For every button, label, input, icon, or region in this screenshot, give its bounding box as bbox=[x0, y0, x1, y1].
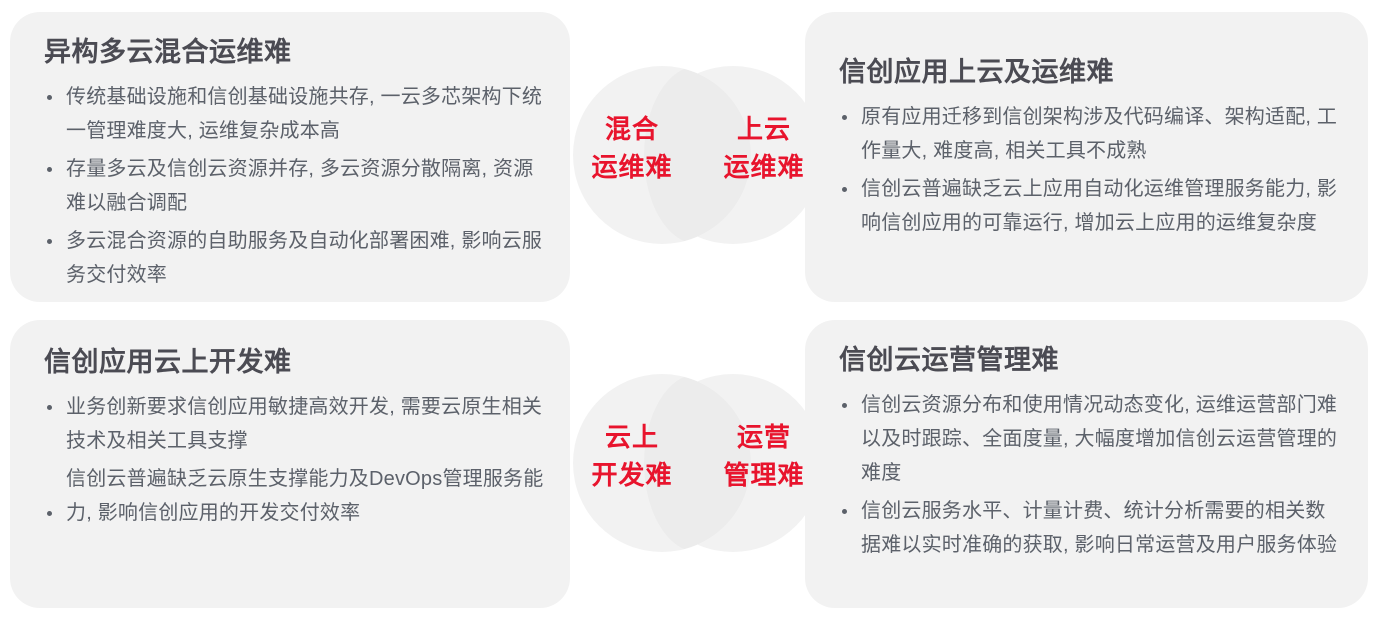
list-item-text: 信创云服务水平、计量计费、统计分析需要的相关数据难以实时准确的获取, 影响日常运… bbox=[861, 500, 1337, 556]
card-xinchuang-app-cloud-migration-ops: 信创应用上云及运维难 原有应用迁移到信创架构涉及代码编译、架构适配, 工作量大,… bbox=[805, 12, 1368, 302]
bullet-dot-icon bbox=[47, 95, 52, 100]
list-item: 信创云普遍缺乏云上应用自动化运维管理服务能力, 影响信创应用的可靠运行, 增加云… bbox=[839, 172, 1342, 240]
list-item-text: 原有应用迁移到信创架构涉及代码编译、架构适配, 工作量大, 难度高, 相关工具不… bbox=[861, 106, 1337, 162]
list-item: 信创云资源分布和使用情况动态变化, 运维运营部门难以及时跟踪、全面度量, 大幅度… bbox=[839, 388, 1342, 490]
card-title: 信创云运营管理难 bbox=[839, 344, 1342, 376]
list-item-text: 信创云资源分布和使用情况动态变化, 运维运营部门难以及时跟踪、全面度量, 大幅度… bbox=[861, 394, 1337, 484]
bullet-dot-icon bbox=[47, 511, 52, 516]
venn-label-cloud-ops: 上云 运维难 bbox=[699, 110, 829, 186]
card-xinchuang-app-cloud-development: 信创应用云上开发难 业务创新要求信创应用敏捷高效开发, 需要云原生相关技术及相关… bbox=[10, 320, 570, 608]
list-item-text: 存量多云及信创云资源并存, 多云资源分散隔离, 资源难以融合调配 bbox=[66, 158, 533, 214]
list-item-text: 多云混合资源的自助服务及自动化部署困难, 影响云服务交付效率 bbox=[66, 230, 542, 286]
bullet-dot-icon bbox=[842, 509, 847, 514]
venn-diagram-bottom: 云上 开发难 运营 管理难 bbox=[573, 374, 823, 554]
bullet-dot-icon bbox=[842, 187, 847, 192]
list-item-text: 信创云普遍缺乏云上应用自动化运维管理服务能力, 影响信创应用的可靠运行, 增加云… bbox=[861, 178, 1337, 234]
list-item: 传统基础设施和信创基础设施共存, 一云多芯架构下统一管理难度大, 运维复杂成本高 bbox=[44, 80, 544, 148]
card-title: 异构多云混合运维难 bbox=[44, 36, 544, 68]
bullet-dot-icon bbox=[47, 239, 52, 244]
list-item: 信创云普遍缺乏云原生支撑能力及DevOps管理服务能力, 影响信创应用的开发交付… bbox=[44, 462, 544, 530]
card-title: 信创应用云上开发难 bbox=[44, 346, 544, 378]
venn-diagram-top: 混合 运维难 上云 运维难 bbox=[573, 66, 823, 246]
list-item-text: 信创云普遍缺乏云原生支撑能力及DevOps管理服务能力, 影响信创应用的开发交付… bbox=[66, 468, 543, 524]
list-item: 业务创新要求信创应用敏捷高效开发, 需要云原生相关技术及相关工具支撑 bbox=[44, 390, 544, 458]
list-item: 存量多云及信创云资源并存, 多云资源分散隔离, 资源难以融合调配 bbox=[44, 152, 544, 220]
venn-label-ops-mgmt: 运营 管理难 bbox=[699, 418, 829, 494]
list-item-text: 业务创新要求信创应用敏捷高效开发, 需要云原生相关技术及相关工具支撑 bbox=[66, 396, 542, 452]
card-title: 信创应用上云及运维难 bbox=[839, 56, 1342, 88]
bullet-dot-icon bbox=[47, 405, 52, 410]
list-item: 多云混合资源的自助服务及自动化部署困难, 影响云服务交付效率 bbox=[44, 224, 544, 292]
venn-label-cloud-dev: 云上 开发难 bbox=[567, 418, 697, 494]
bullet-dot-icon bbox=[842, 403, 847, 408]
bullet-list: 信创云资源分布和使用情况动态变化, 运维运营部门难以及时跟踪、全面度量, 大幅度… bbox=[839, 388, 1342, 562]
venn-label-hybrid-ops: 混合 运维难 bbox=[567, 110, 697, 186]
list-item-text: 传统基础设施和信创基础设施共存, 一云多芯架构下统一管理难度大, 运维复杂成本高 bbox=[66, 86, 542, 142]
bullet-list: 传统基础设施和信创基础设施共存, 一云多芯架构下统一管理难度大, 运维复杂成本高… bbox=[44, 80, 544, 292]
list-item: 原有应用迁移到信创架构涉及代码编译、架构适配, 工作量大, 难度高, 相关工具不… bbox=[839, 100, 1342, 168]
card-heterogeneous-multicloud-ops: 异构多云混合运维难 传统基础设施和信创基础设施共存, 一云多芯架构下统一管理难度… bbox=[10, 12, 570, 302]
bullet-dot-icon bbox=[842, 115, 847, 120]
bullet-dot-icon bbox=[47, 167, 52, 172]
list-item: 信创云服务水平、计量计费、统计分析需要的相关数据难以实时准确的获取, 影响日常运… bbox=[839, 494, 1342, 562]
bullet-list: 原有应用迁移到信创架构涉及代码编译、架构适配, 工作量大, 难度高, 相关工具不… bbox=[839, 100, 1342, 240]
card-xinchuang-cloud-operations-management: 信创云运营管理难 信创云资源分布和使用情况动态变化, 运维运营部门难以及时跟踪、… bbox=[805, 320, 1368, 608]
bullet-list: 业务创新要求信创应用敏捷高效开发, 需要云原生相关技术及相关工具支撑 信创云普遍… bbox=[44, 390, 544, 530]
